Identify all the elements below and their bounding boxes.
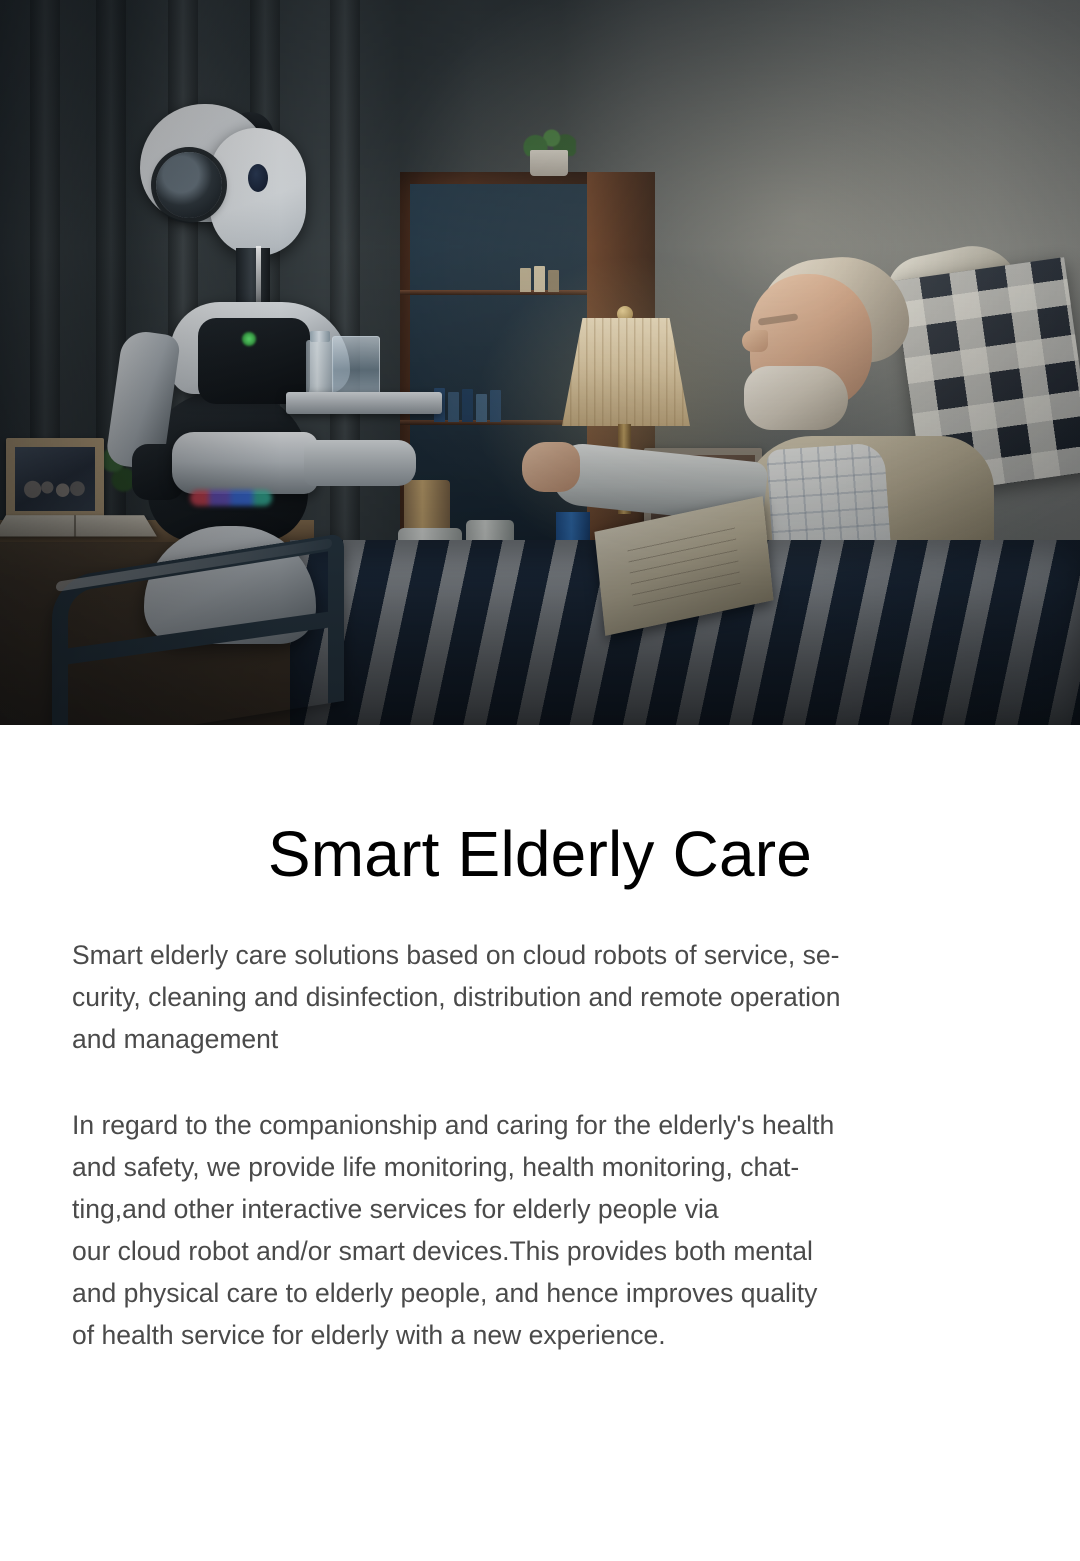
reaching-hand — [522, 442, 580, 492]
robot-eye — [248, 164, 268, 192]
robot-hand — [304, 440, 416, 486]
medicine-bottle — [306, 340, 334, 398]
plant-pot — [530, 150, 568, 176]
robot-camera-lens — [156, 152, 222, 218]
paragraph-line: Smart elderly care solutions based on cl… — [72, 934, 1008, 976]
family-photo-frame-left — [6, 438, 104, 520]
hero-image — [0, 0, 1080, 725]
paragraph-line: and physical care to elderly people, and… — [72, 1272, 1008, 1314]
potted-plant-shelf-top — [516, 128, 582, 176]
nose — [742, 330, 768, 352]
paragraph-summary: Smart elderly care solutions based on cl… — [72, 934, 1008, 1060]
paragraph-line: our cloud robot and/or smart devices.Thi… — [72, 1230, 1008, 1272]
bookshelf-books — [520, 264, 573, 292]
water-glass — [332, 336, 380, 398]
table-lamp-shade — [562, 318, 690, 426]
paragraph-line: curity, cleaning and disinfection, distr… — [72, 976, 1008, 1018]
robot-status-led — [242, 332, 256, 346]
paragraph-line: ting,and other interactive services for … — [72, 1188, 1008, 1230]
hero-scene — [0, 0, 1080, 725]
family-photo — [15, 447, 95, 511]
paragraph-line: In regard to the companionship and carin… — [72, 1104, 1008, 1146]
paragraph-detail: In regard to the companionship and carin… — [72, 1104, 1008, 1356]
paragraph-line: and management — [72, 1018, 1008, 1060]
robot-forearm — [172, 432, 318, 494]
paragraph-line: of health service for elderly with a new… — [72, 1314, 1008, 1356]
page-title: Smart Elderly Care — [72, 821, 1008, 888]
white-beard — [744, 366, 848, 430]
paragraph-line: and safety, we provide life monitoring, … — [72, 1146, 1008, 1188]
bookshelf-books — [434, 386, 501, 422]
robot-rgb-led-strip — [190, 490, 272, 506]
robot-face-panel — [210, 128, 306, 256]
article-content: Smart Elderly Care Smart elderly care so… — [0, 821, 1080, 1356]
serving-tray — [286, 392, 442, 414]
